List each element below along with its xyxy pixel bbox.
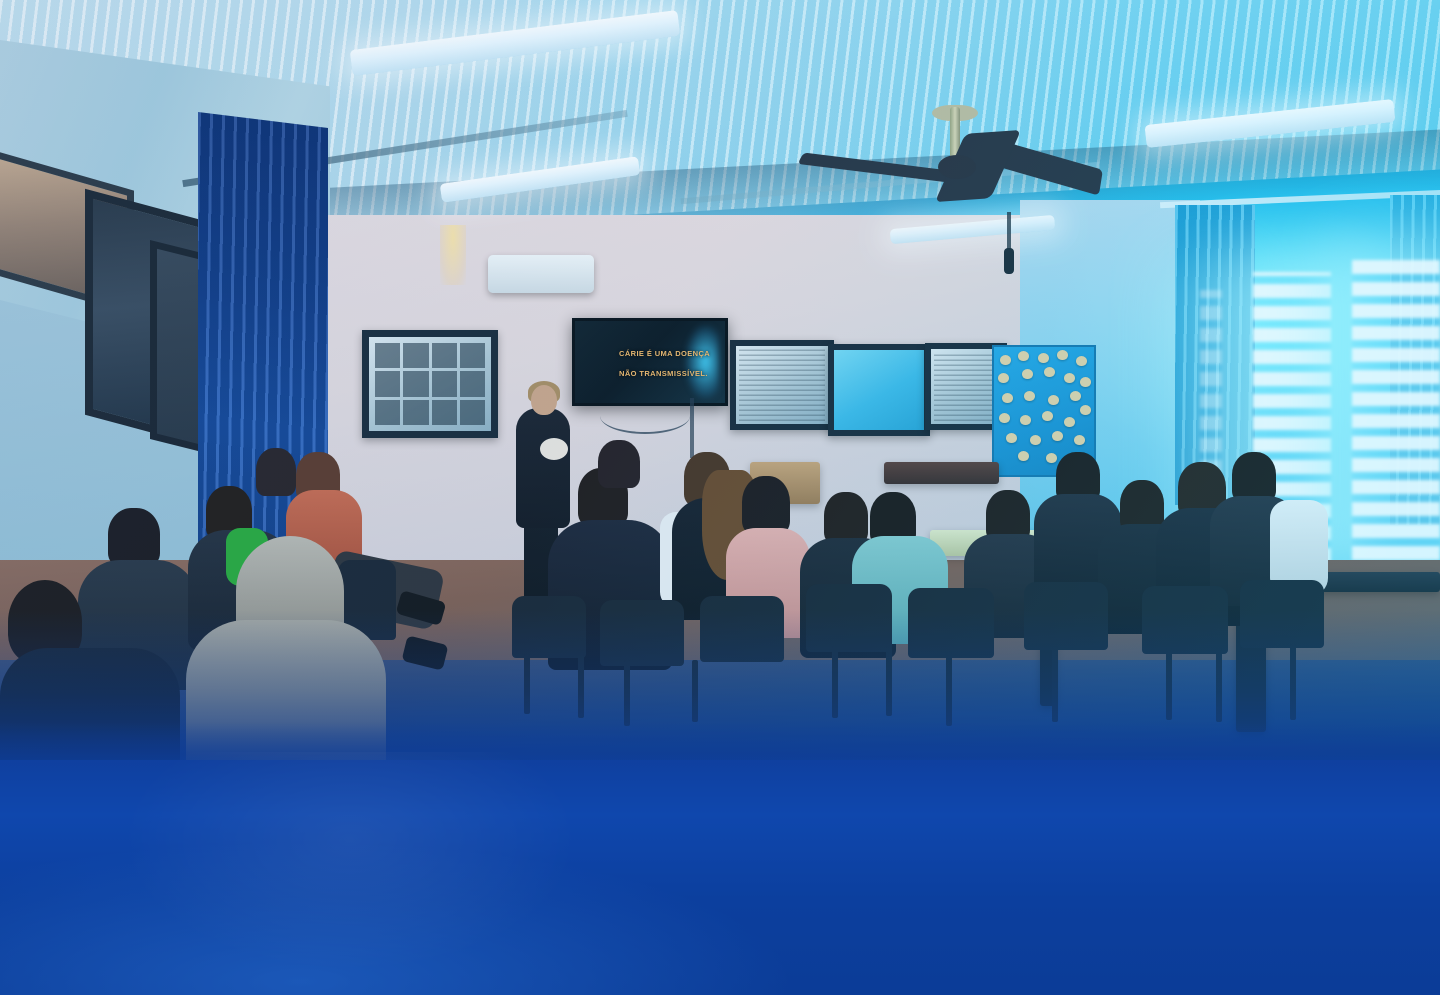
chair-leg <box>946 652 952 726</box>
chair-leg <box>578 654 584 718</box>
presentation-screen: CÁRIE É UMA DOENÇA NÃO TRANSMISSÍVEL. <box>572 318 728 406</box>
ceiling-fan-icon <box>820 105 1140 245</box>
tv-cable <box>600 398 690 434</box>
attendee-head <box>598 440 640 488</box>
chair-leg <box>1052 646 1058 722</box>
attendee-head <box>1232 452 1276 502</box>
attendee-head <box>742 476 790 534</box>
slide-text-line-2: NÃO TRANSMISSÍVEL. <box>619 369 708 378</box>
chair <box>806 584 892 652</box>
presenter-hands <box>540 438 568 460</box>
chair-leg <box>886 646 892 716</box>
attendee-head <box>256 448 296 496</box>
window-light-2 <box>1352 260 1440 560</box>
attendee-head <box>824 492 868 544</box>
chair-leg <box>692 660 698 722</box>
wall-frame-1 <box>730 340 834 430</box>
wall-frame-2 <box>828 344 930 436</box>
chair <box>908 588 994 658</box>
light-pull-cord <box>1007 212 1011 250</box>
chair <box>1024 582 1108 650</box>
chair-leg <box>1166 648 1172 720</box>
air-conditioner <box>488 255 594 293</box>
chair-leg <box>1216 648 1222 722</box>
chair-leg <box>624 660 630 726</box>
chair <box>1240 580 1324 648</box>
chair <box>700 596 784 662</box>
chair <box>600 600 684 666</box>
chair-leg <box>1290 644 1296 720</box>
chair <box>1142 586 1228 654</box>
chair-leg <box>832 646 838 718</box>
banner: 2013 1992 CORONEL BARROS MUNICÍPIO DE CO… <box>0 740 1440 945</box>
chair-leg <box>524 654 530 714</box>
screen-glow <box>685 325 719 399</box>
tv-cable-2 <box>690 398 694 458</box>
event-photograph: CÁRIE É UMA DOENÇA NÃO TRANSMISSÍVEL. <box>0 0 1440 760</box>
news-banner-image: CÁRIE É UMA DOENÇA NÃO TRANSMISSÍVEL. <box>0 0 1440 995</box>
hanging-decoration <box>440 225 466 285</box>
table-back <box>884 462 999 484</box>
chair <box>512 596 586 658</box>
presenter-head <box>531 385 557 415</box>
slide-text-line-1: CÁRIE É UMA DOENÇA <box>619 349 710 358</box>
presenter-body <box>516 408 570 528</box>
wall-frame-left <box>362 330 498 438</box>
attendee-head <box>108 508 160 566</box>
